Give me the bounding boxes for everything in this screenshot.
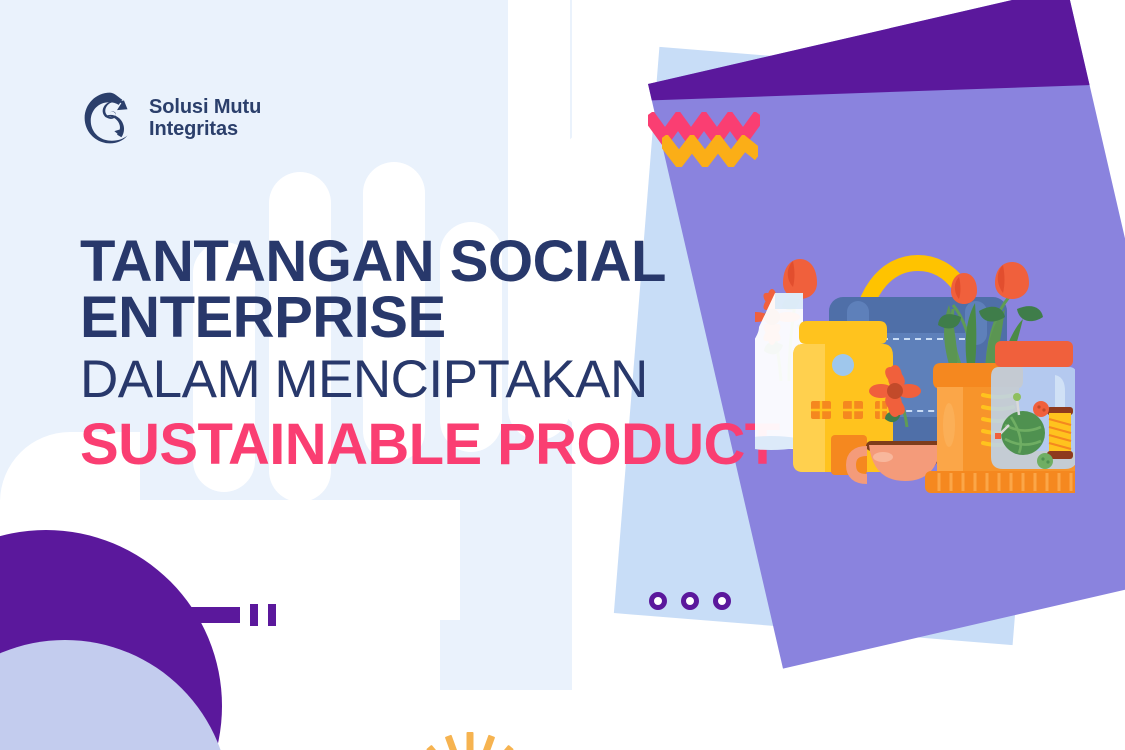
brand-logo[interactable]: Solusi Mutu Integritas (82, 90, 261, 146)
decor-dots-group (649, 592, 731, 610)
decor-sunburst-icon (400, 688, 540, 750)
decor-dash-short-2 (268, 604, 276, 626)
banner-canvas: Solusi Mutu Integritas TANTANGAN SOCIAL … (0, 0, 1125, 750)
solusi-mutu-swirl-logo-icon (82, 90, 138, 146)
headline-block: TANTANGAN SOCIAL ENTERPRISE DALAM MENCIP… (80, 234, 800, 478)
brand-name: Solusi Mutu Integritas (149, 96, 261, 141)
decor-dot-icon-1 (649, 592, 667, 610)
decor-dot-icon-3 (713, 592, 731, 610)
headline-line-1: TANTANGAN SOCIAL (80, 234, 800, 290)
decor-dash-group (182, 604, 276, 626)
decor-dash-short-1 (250, 604, 258, 626)
headline-line-3: DALAM MENCIPTAKAN (80, 347, 800, 414)
brand-name-line2: Integritas (149, 118, 238, 140)
sustainable-products-illustration (755, 205, 1075, 495)
zigzag-orange-icon (662, 135, 758, 167)
decor-cut-3 (300, 500, 460, 620)
decor-dot-icon-2 (681, 592, 699, 610)
headline-line-4: SUSTAINABLE PRODUCT (80, 413, 800, 478)
decor-dash-long (182, 607, 240, 623)
headline-line-2: ENTERPRISE (80, 290, 800, 346)
brand-name-line1: Solusi Mutu (149, 96, 261, 118)
